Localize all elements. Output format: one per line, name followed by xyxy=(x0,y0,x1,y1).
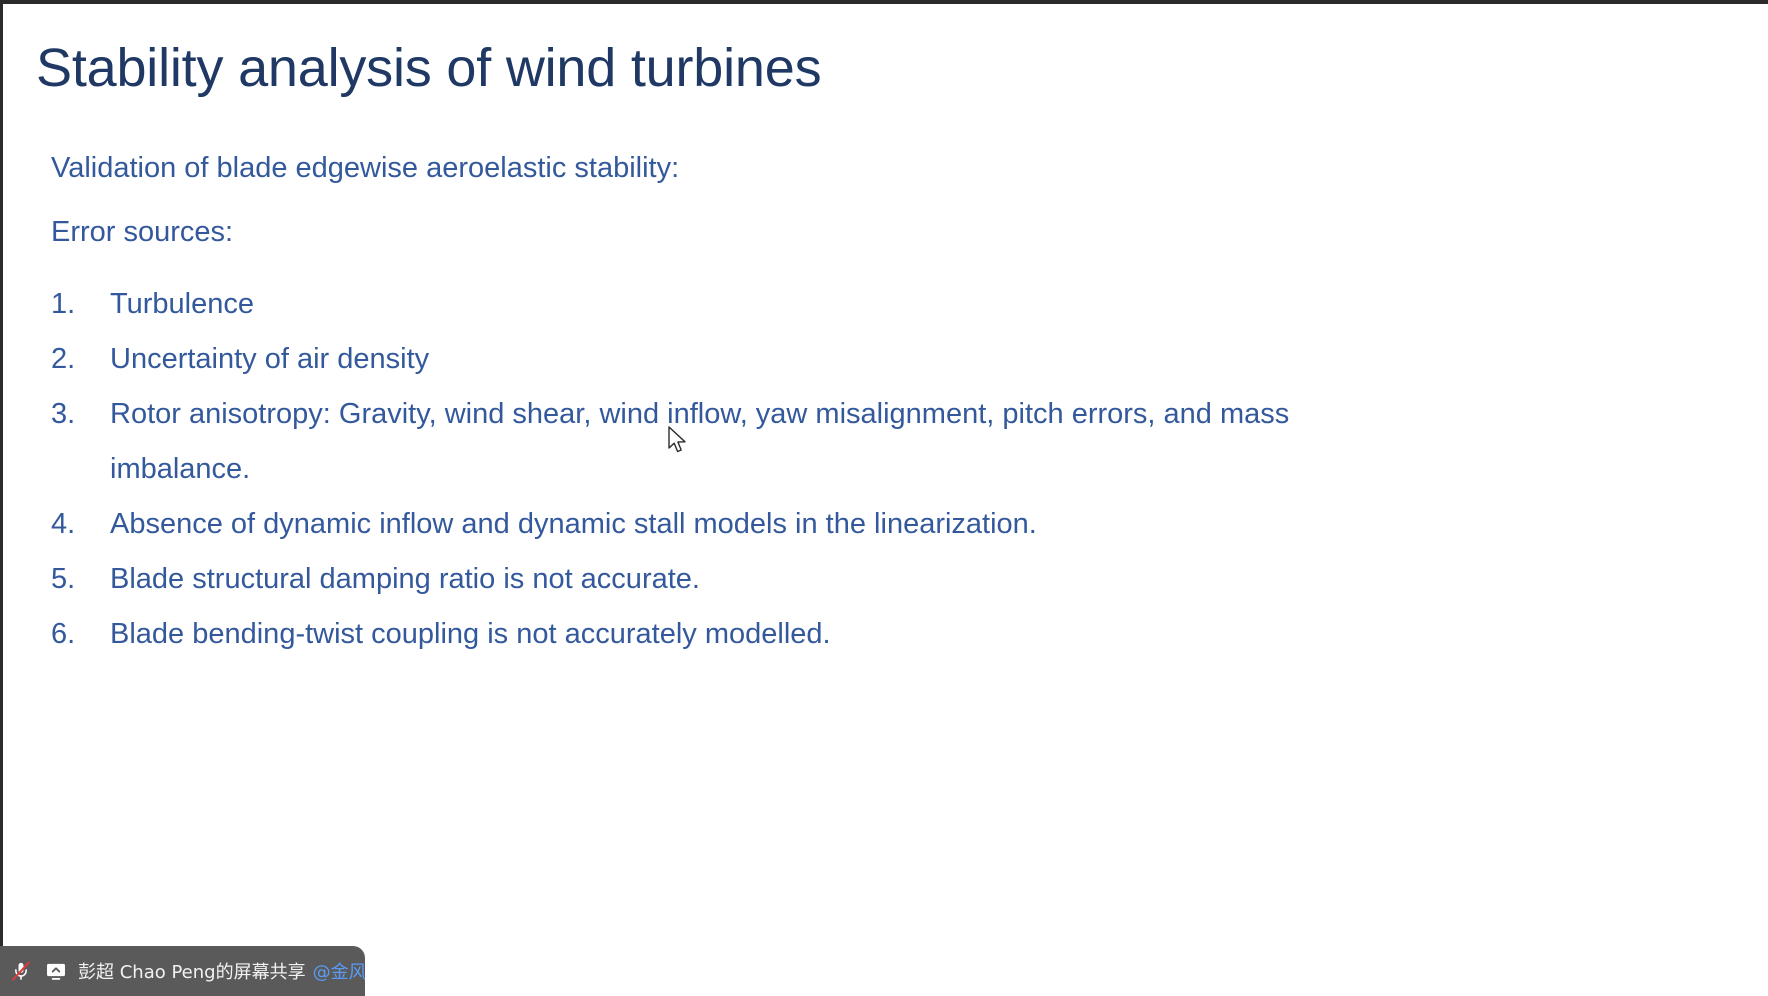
list-item-label: Turbulence xyxy=(110,277,1300,332)
list-item: 4. Absence of dynamic inflow and dynamic… xyxy=(51,497,1671,552)
screen-share-organization: @金风科技 xyxy=(313,958,365,984)
page-title: Stability analysis of wind turbines xyxy=(36,40,821,97)
list-item: 2. Uncertainty of air density xyxy=(51,332,1671,387)
presentation-slide: Stability analysis of wind turbines Vali… xyxy=(3,4,1768,960)
list-item-number: 6. xyxy=(51,607,110,662)
list-item-label: Uncertainty of air density xyxy=(110,332,1300,387)
list-item-number: 4. xyxy=(51,497,110,552)
microphone-muted-icon[interactable] xyxy=(8,958,34,984)
lead-paragraph-validation: Validation of blade edgewise aeroelastic… xyxy=(51,154,679,183)
shared-screen: Stability analysis of wind turbines Vali… xyxy=(0,0,1768,996)
list-item-number: 5. xyxy=(51,552,110,607)
list-item-label: Rotor anisotropy: Gravity, wind shear, w… xyxy=(110,387,1300,497)
list-item: 3. Rotor anisotropy: Gravity, wind shear… xyxy=(51,387,1671,497)
screen-share-label: 彭超 Chao Peng的屏幕共享 xyxy=(78,958,306,984)
screen-share-icon[interactable] xyxy=(43,958,69,984)
error-sources-list: 1. Turbulence 2. Uncertainty of air dens… xyxy=(51,277,1671,662)
list-item: 6. Blade bending-twist coupling is not a… xyxy=(51,607,1671,662)
list-item: 1. Turbulence xyxy=(51,277,1671,332)
list-item: 5. Blade structural damping ratio is not… xyxy=(51,552,1671,607)
screen-share-indicator-bar[interactable]: 彭超 Chao Peng的屏幕共享 @金风科技 xyxy=(0,946,365,996)
list-item-label: Blade bending-twist coupling is not accu… xyxy=(110,607,1300,662)
list-item-label: Blade structural damping ratio is not ac… xyxy=(110,552,1300,607)
list-item-label: Absence of dynamic inflow and dynamic st… xyxy=(110,497,1300,552)
list-item-number: 3. xyxy=(51,387,110,442)
lead-paragraph-error-sources: Error sources: xyxy=(51,218,233,247)
list-item-number: 2. xyxy=(51,332,110,387)
list-item-number: 1. xyxy=(51,277,110,332)
